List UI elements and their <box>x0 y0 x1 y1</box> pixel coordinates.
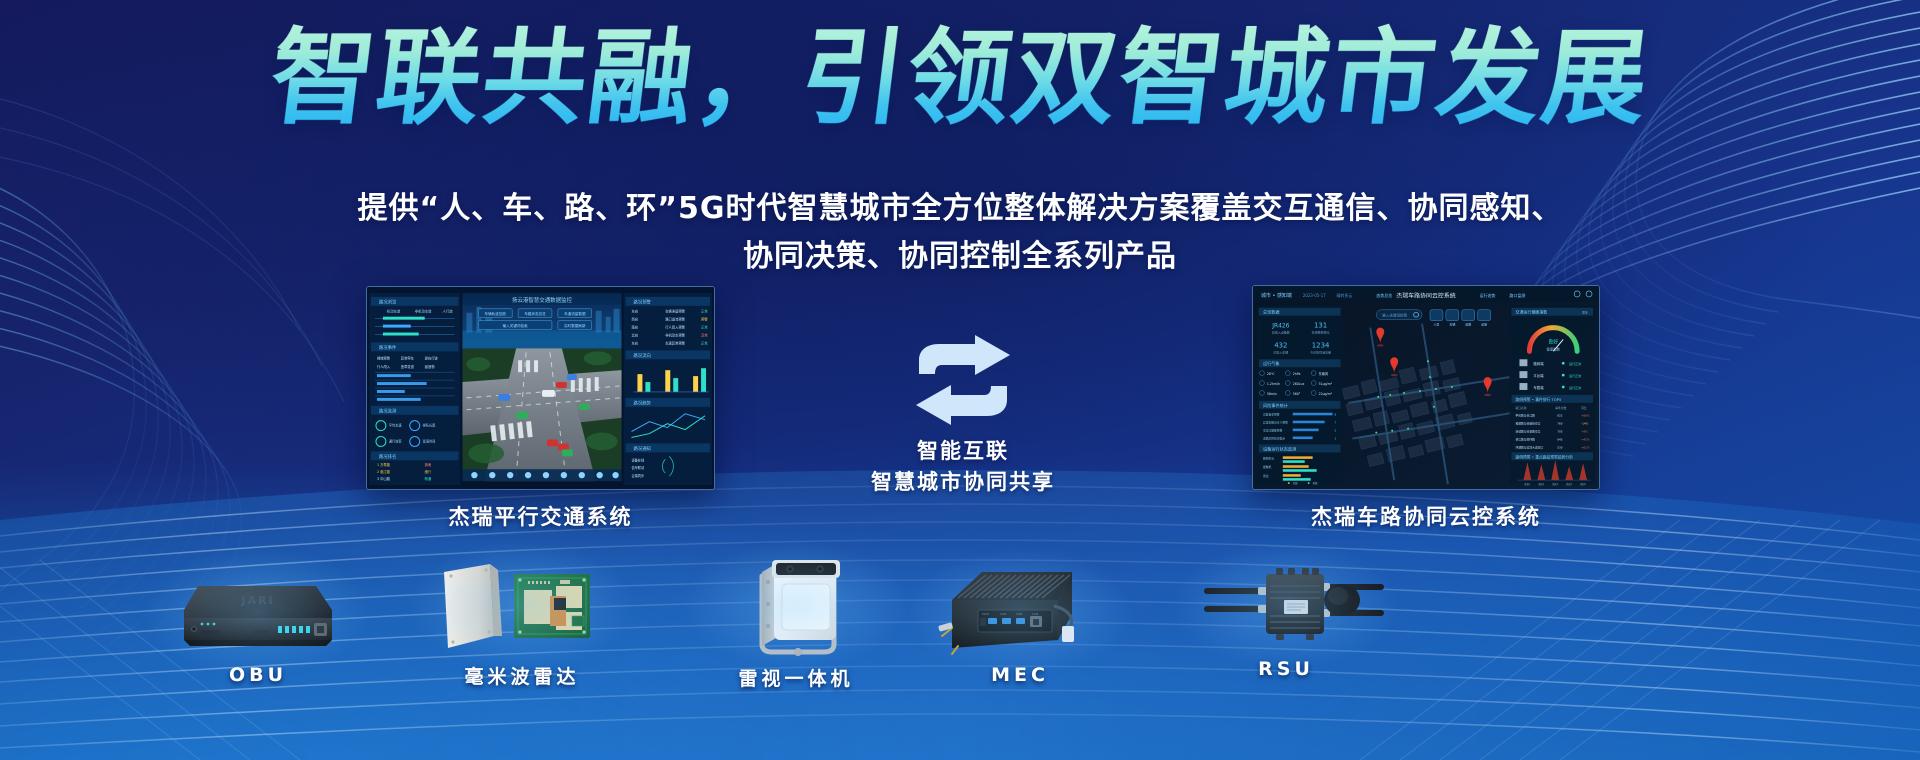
svg-text:+42%: +42% <box>1581 437 1590 441</box>
svg-text:260Lux: 260Lux <box>1293 382 1305 386</box>
svg-text:车速异常预警: 车速异常预警 <box>665 340 685 345</box>
svg-text:JARI: JARI <box>240 594 274 607</box>
subtitle-line-1: 提供“人、车、路、环”5G时代智慧城市全方位整体解决方案覆盖交互通信、协同感知、 <box>0 185 1920 233</box>
svg-text:在线: 在线 <box>1293 481 1298 485</box>
mmwave-radar-icon <box>432 556 612 656</box>
svg-text:正常: 正常 <box>701 325 708 330</box>
svg-text:总接入设备数: 总接入设备数 <box>1272 330 1290 335</box>
interconnect-text: 智能互联 智慧城市协同共享 <box>868 436 1058 498</box>
svg-text:良好: 良好 <box>1548 338 1558 345</box>
svg-text:路况通知: 路况通知 <box>633 445 650 452</box>
svg-text:非机动车道: 非机动车道 <box>415 309 432 314</box>
svg-text:东向: 东向 <box>631 309 638 314</box>
svg-text:车路状态总览: 车路状态总览 <box>524 311 546 316</box>
dashboard-cloud-control[interactable]: 城市 • 感知端 2023-05-17 晴转多云 杰瑞车路协同云控系统 态势总览… <box>1252 285 1600 490</box>
svg-text:北向: 北向 <box>631 333 638 338</box>
mec-server-icon: PWRUSB USBLAN <box>930 566 1110 658</box>
svg-text:运行气象: 运行气象 <box>1263 360 1280 366</box>
svg-text:车载端: 车载端 <box>1533 385 1544 390</box>
svg-text:非机动车预警: 非机动车预警 <box>665 333 685 338</box>
cloud-control-visual: 城市 • 感知端 2023-05-17 晴转多云 杰瑞车路协同云控系统 态势总览… <box>1253 286 1599 489</box>
svg-text:运行正常: 运行正常 <box>1569 361 1581 366</box>
svg-text:东向: 东向 <box>631 340 638 345</box>
svg-text:城市 • 感知端: 城市 • 感知端 <box>1261 292 1292 299</box>
interconnect-line-1: 智能互联 <box>868 436 1058 467</box>
svg-text:设备运行状态监测: 设备运行状态监测 <box>1263 445 1296 451</box>
svg-text:路侧预警 • 重点路段预警趋势分析: 路侧预警 • 重点路段预警趋势分析 <box>1515 454 1573 459</box>
svg-text:拥堵: 拥堵 <box>425 462 432 467</box>
svg-text:机动车道: 机动车道 <box>387 309 401 314</box>
dashboard-parallel-traffic[interactable]: 扬云港智慧交通数据监控 车辆轨迹回放车路状态总览 车道流量数据输入关键词检索 实… <box>366 286 715 490</box>
svg-text:新城路与长安路交口: 新城路与长安路交口 <box>1515 430 1540 434</box>
svg-text:云端同步: 云端同步 <box>631 473 644 478</box>
dashboard-screen-right: 城市 • 感知端 2023-05-17 晴转多云 杰瑞车路协同云控系统 态势总览… <box>1252 285 1600 490</box>
panel-caption-right: 杰瑞车路协同云控系统 <box>1252 501 1600 531</box>
svg-text:1 万寿路: 1 万寿路 <box>377 462 391 467</box>
svg-text:雷达: 雷达 <box>1263 474 1269 478</box>
svg-text:56m/s: 56m/s <box>1267 392 1277 396</box>
svg-text:人员: 人员 <box>1433 323 1439 327</box>
svg-text:28℃: 28℃ <box>1267 372 1275 376</box>
parallel-traffic-visual: 扬云港智慧交通数据监控 车辆轨迹回放车路状态总览 车道流量数据输入关键词检索 实… <box>367 287 714 489</box>
product-label: RSU <box>1196 658 1376 680</box>
svg-text:离线: 离线 <box>1313 481 1318 485</box>
svg-text:道路: 道路 <box>1465 322 1471 327</box>
svg-text:USB: USB <box>1000 612 1006 616</box>
svg-text:路段5: 路段5 <box>1580 482 1586 486</box>
svg-text:645: 645 <box>1557 437 1563 441</box>
svg-text:530: 530 <box>1557 445 1563 449</box>
svg-text:平台端: 平台端 <box>1533 373 1544 378</box>
svg-text:8: 8 <box>1335 413 1337 417</box>
svg-text:2 临江路: 2 临江路 <box>377 469 391 474</box>
panel-caption-left: 杰瑞平行交通系统 <box>366 501 715 531</box>
svg-text:22μg/m³: 22μg/m³ <box>1319 392 1333 396</box>
svg-text:南向: 南向 <box>631 325 638 330</box>
svg-text:705: 705 <box>1557 430 1563 434</box>
svg-text:望江路与南环路: 望江路与南环路 <box>1515 437 1535 441</box>
svg-text:输入关键词检索: 输入关键词检索 <box>503 323 528 328</box>
svg-text:延误时间: 延误时间 <box>423 438 436 443</box>
svg-text:排队长度: 排队长度 <box>423 423 436 428</box>
svg-text:路况排名: 路况排名 <box>379 453 396 460</box>
svg-text:760: 760 <box>1557 422 1563 426</box>
subtitle-line-2: 协同决策、协同控制全系列产品 <box>0 233 1920 281</box>
svg-text:路口溢流预警: 路口溢流预警 <box>665 317 685 322</box>
product-label: 雷视一体机 <box>706 664 886 691</box>
svg-text:3: 3 <box>1335 436 1337 440</box>
svg-text:路口监测: 路口监测 <box>1510 293 1526 298</box>
svg-text:-14%: -14% <box>1581 422 1589 426</box>
svg-text:路段3: 路段3 <box>1552 482 1558 486</box>
svg-text:+61%: +61% <box>1581 445 1590 449</box>
product-label: 毫米波雷达 <box>432 662 612 689</box>
svg-text:1234: 1234 <box>1312 341 1330 349</box>
svg-text:路侧单元: 路侧单元 <box>1263 456 1274 460</box>
svg-text:实时数据刷新: 实时数据刷新 <box>564 323 586 328</box>
product-mec[interactable]: PWRUSB USBLAN MEC <box>930 566 1110 686</box>
radar-vision-camera-icon <box>706 552 886 658</box>
svg-text:交叉口碰撞预警: 交叉口碰撞预警 <box>1263 429 1283 433</box>
svg-text:在线路侧单元: 在线路侧单元 <box>1312 330 1330 335</box>
svg-text:运行正常: 运行正常 <box>1569 373 1581 378</box>
svg-text:西向: 西向 <box>631 317 638 322</box>
svg-text:+9%: +9% <box>1581 430 1588 434</box>
product-label: OBU <box>168 664 348 686</box>
svg-text:7: 7 <box>1335 421 1337 425</box>
svg-text:态势总览: 态势总览 <box>1376 293 1392 298</box>
svg-text:USB: USB <box>1016 612 1022 616</box>
svg-text:道路危险状况提示: 道路危险状况提示 <box>1263 436 1285 440</box>
svg-text:环湖路与滨河大道交口: 环湖路与滨河大道交口 <box>1515 445 1543 449</box>
dashboard-screen-left: 扬云港智慧交通数据监控 车辆轨迹回放车路状态总览 车道流量数据输入关键词检索 实… <box>366 286 715 490</box>
svg-text:车辆滞留预警: 车辆滞留预警 <box>665 309 685 314</box>
svg-text:2023-05-17: 2023-05-17 <box>1303 293 1327 298</box>
interconnect-block: 智能互联 智慧城市协同共享 <box>868 334 1058 498</box>
svg-text:东南风: 东南风 <box>1319 371 1329 376</box>
svg-text:正常: 正常 <box>701 340 708 345</box>
svg-text:行人闯入预警: 行人闯入预警 <box>665 325 685 330</box>
page-subtitle: 提供“人、车、路、环”5G时代智慧城市全方位整体解决方案覆盖交互通信、协同感知、… <box>0 185 1920 281</box>
svg-text:路况趋势: 路况趋势 <box>633 399 651 406</box>
svg-text:路况预警: 路况预警 <box>633 298 651 305</box>
svg-text:拥堵预警: 拥堵预警 <box>377 355 391 360</box>
svg-text:LAN: LAN <box>1032 612 1038 616</box>
svg-text:PWR: PWR <box>982 612 989 616</box>
product-label: MEC <box>930 664 1110 686</box>
svg-text:路口名称: 路口名称 <box>1515 406 1526 410</box>
page-title: 智联共融，引领双智城市发展 <box>0 22 1920 134</box>
svg-text:和顺路与金融街交口: 和顺路与金融街交口 <box>1515 422 1540 426</box>
svg-text:异常车辆与行人预警: 异常车辆与行人预警 <box>1263 421 1288 425</box>
svg-text:事件次数: 事件次数 <box>1555 406 1566 410</box>
svg-text:560°: 560° <box>1293 392 1301 396</box>
svg-text:平均车速: 平均车速 <box>389 423 402 428</box>
svg-text:更多: 更多 <box>1582 310 1588 315</box>
svg-text:异常停车: 异常停车 <box>401 355 415 360</box>
svg-text:车道流量数据: 车道流量数据 <box>564 311 586 316</box>
svg-text:131: 131 <box>1314 322 1327 330</box>
svg-text:正常: 正常 <box>701 309 708 314</box>
svg-text:运行态势: 运行态势 <box>1480 293 1496 298</box>
interconnect-line-2: 智慧城市协同共享 <box>868 467 1058 498</box>
svg-text:路段2: 路段2 <box>1538 482 1544 486</box>
svg-text:5: 5 <box>1335 429 1337 433</box>
svg-text:路况浏览: 路况浏览 <box>379 298 397 305</box>
svg-text:缓行: 缓行 <box>425 469 432 474</box>
svg-text:同比: 同比 <box>1581 406 1587 410</box>
svg-text:运行正常: 运行正常 <box>1569 385 1581 390</box>
svg-text:3 中山路: 3 中山路 <box>377 476 391 481</box>
svg-text:已接入车辆: 已接入车辆 <box>1273 349 1288 354</box>
svg-text:+66%: +66% <box>1581 414 1590 418</box>
svg-text:今日协同消息量: 今日协同消息量 <box>1310 349 1331 354</box>
svg-text:车辆轨迹回放: 车辆轨迹回放 <box>485 311 507 316</box>
svg-text:路段1: 路段1 <box>1525 482 1531 486</box>
svg-text:车辆: 车辆 <box>1449 322 1455 327</box>
svg-text:盲区会车预警: 盲区会车预警 <box>1263 413 1280 417</box>
banner-stage: 智联共融，引领双智城市发展 提供“人、车、路、环”5G时代智慧城市全方位整体解决… <box>0 0 1920 760</box>
svg-text:路况监测: 路况监测 <box>379 407 397 414</box>
svg-text:预警: 预警 <box>701 317 708 322</box>
svg-text:信号联动: 信号联动 <box>631 465 644 470</box>
svg-text:822: 822 <box>1557 414 1563 418</box>
product-radar-vision-camera[interactable]: 雷视一体机 <box>706 552 886 691</box>
svg-text:违章变道: 违章变道 <box>401 364 415 369</box>
product-mmwave-radar[interactable]: 毫米波雷达 <box>432 556 612 689</box>
svg-text:设备在线: 设备在线 <box>631 457 644 462</box>
svg-text:学府路与长江路: 学府路与长江路 <box>1515 414 1535 418</box>
svg-text:摄像机: 摄像机 <box>1263 465 1272 469</box>
svg-text:2hPa: 2hPa <box>1293 372 1301 376</box>
svg-text:路况流向: 路况流向 <box>633 352 650 359</box>
svg-text:432: 432 <box>1274 341 1287 349</box>
svg-text:路段4: 路段4 <box>1566 482 1572 486</box>
svg-text:51μg/m³: 51μg/m³ <box>1319 382 1333 386</box>
svg-text:路侧端: 路侧端 <box>1533 361 1544 366</box>
svg-text:风险事件统计: 风险事件统计 <box>1263 402 1288 408</box>
svg-text:通行效率: 通行效率 <box>389 438 402 443</box>
svg-text:总览数据: 总览数据 <box>1263 309 1280 315</box>
svg-text:异常: 异常 <box>701 333 708 338</box>
svg-text:抛洒物: 抛洒物 <box>425 364 436 369</box>
rsu-antenna-icon <box>1196 558 1376 652</box>
svg-text:畅通: 畅通 <box>425 476 432 481</box>
svg-text:逆向行驶: 逆向行驶 <box>425 355 439 360</box>
svg-text:行人闯入: 行人闯入 <box>377 364 391 369</box>
obu-device-icon: JARI <box>168 566 348 658</box>
svg-text:路况事件: 路况事件 <box>379 344 397 351</box>
svg-text:输入关键词检索: 输入关键词检索 <box>1382 313 1407 318</box>
svg-text:扬云港智慧交通数据监控: 扬云港智慧交通数据监控 <box>512 296 572 304</box>
exchange-arrows-icon <box>868 334 1058 426</box>
product-obu[interactable]: JARI OBU <box>168 566 348 686</box>
product-rsu[interactable]: RSU <box>1196 558 1376 680</box>
svg-text:路侧预警 • 事件排行 TOP5: 路侧预警 • 事件排行 TOP5 <box>1515 397 1562 402</box>
svg-text:设施: 设施 <box>1481 322 1487 327</box>
svg-text:人行道: 人行道 <box>443 309 454 314</box>
svg-text:1.2km/h: 1.2km/h <box>1267 382 1280 386</box>
svg-text:JR426: JR426 <box>1271 323 1289 330</box>
svg-text:交通运行健康指数: 交通运行健康指数 <box>1515 310 1547 315</box>
svg-text:晴转多云: 晴转多云 <box>1337 293 1353 298</box>
